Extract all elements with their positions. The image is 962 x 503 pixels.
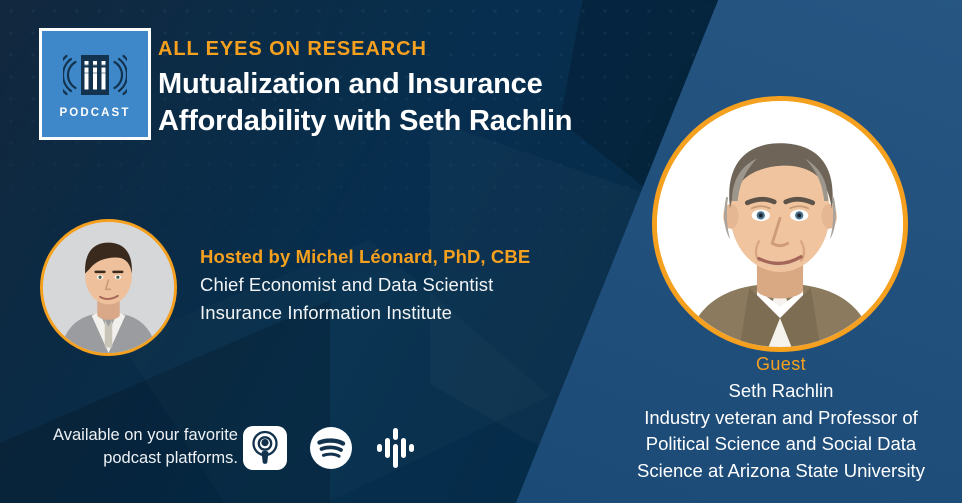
guest-bio-line-1: Industry veteran and Professor of [600, 405, 962, 432]
host-avatar [40, 219, 177, 356]
podcast-promo-card: PODCAST ALL EYES ON RESEARCH Mutualizati… [0, 0, 962, 503]
series-eyebrow: ALL EYES ON RESEARCH [158, 38, 427, 60]
guest-bio-line-2: Political Science and Social Data [600, 431, 962, 458]
host-headshot-illustration [43, 222, 174, 353]
guest-bio-line-3: Science at Arizona State University [600, 458, 962, 485]
apple-podcasts-icon[interactable] [243, 426, 287, 470]
spotify-icon[interactable] [309, 426, 353, 470]
platforms-text-line-2: podcast platforms. [38, 447, 238, 470]
episode-title: Mutualization and Insurance Affordabilit… [158, 66, 628, 139]
episode-title-line-2: Affordability with Seth Rachlin [158, 103, 628, 140]
platforms-availability-text: Available on your favorite podcast platf… [38, 424, 238, 471]
logo-wordmark-row: PODCAST [60, 108, 131, 120]
iii-logo-mark [63, 48, 127, 102]
guest-info: Guest Seth Rachlin Industry veteran and … [600, 352, 962, 484]
host-info: Hosted by Michel Léonard, PhD, CBE Chief… [200, 243, 550, 327]
guest-headshot-illustration [657, 101, 903, 347]
guest-name: Seth Rachlin [600, 378, 962, 405]
iii-podcast-logo: PODCAST [39, 28, 151, 140]
episode-title-line-1: Mutualization and Insurance [158, 66, 628, 103]
logo-wordmark: PODCAST [60, 108, 131, 120]
platforms-text-line-1: Available on your favorite [38, 424, 238, 447]
guest-label: Guest [600, 352, 962, 378]
platform-icon-row [243, 426, 419, 470]
guest-avatar [652, 96, 908, 352]
host-role-line: Chief Economist and Data Scientist [200, 271, 550, 299]
host-org-line: Insurance Information Institute [200, 299, 550, 327]
google-podcasts-icon[interactable] [375, 426, 419, 470]
host-name-line: Hosted by Michel Léonard, PhD, CBE [200, 243, 550, 271]
